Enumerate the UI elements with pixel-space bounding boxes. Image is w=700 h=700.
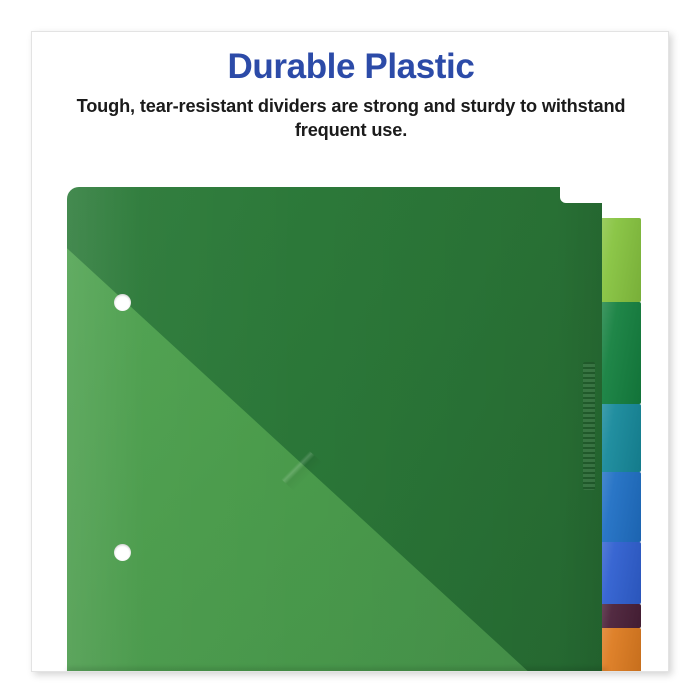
product-photo <box>32 32 669 672</box>
divider-sheet <box>67 187 602 672</box>
binder-hole-top <box>114 294 131 311</box>
pocket-notch <box>560 187 602 203</box>
product-card: Durable Plastic Tough, tear-resistant di… <box>31 31 669 672</box>
binder-hole-bottom <box>114 544 131 561</box>
product-image-canvas: Durable Plastic Tough, tear-resistant di… <box>0 0 700 700</box>
sheet-sheen <box>67 187 602 672</box>
ribbed-pocket-edge <box>583 362 595 490</box>
sheet-drop-shadow <box>67 668 607 672</box>
